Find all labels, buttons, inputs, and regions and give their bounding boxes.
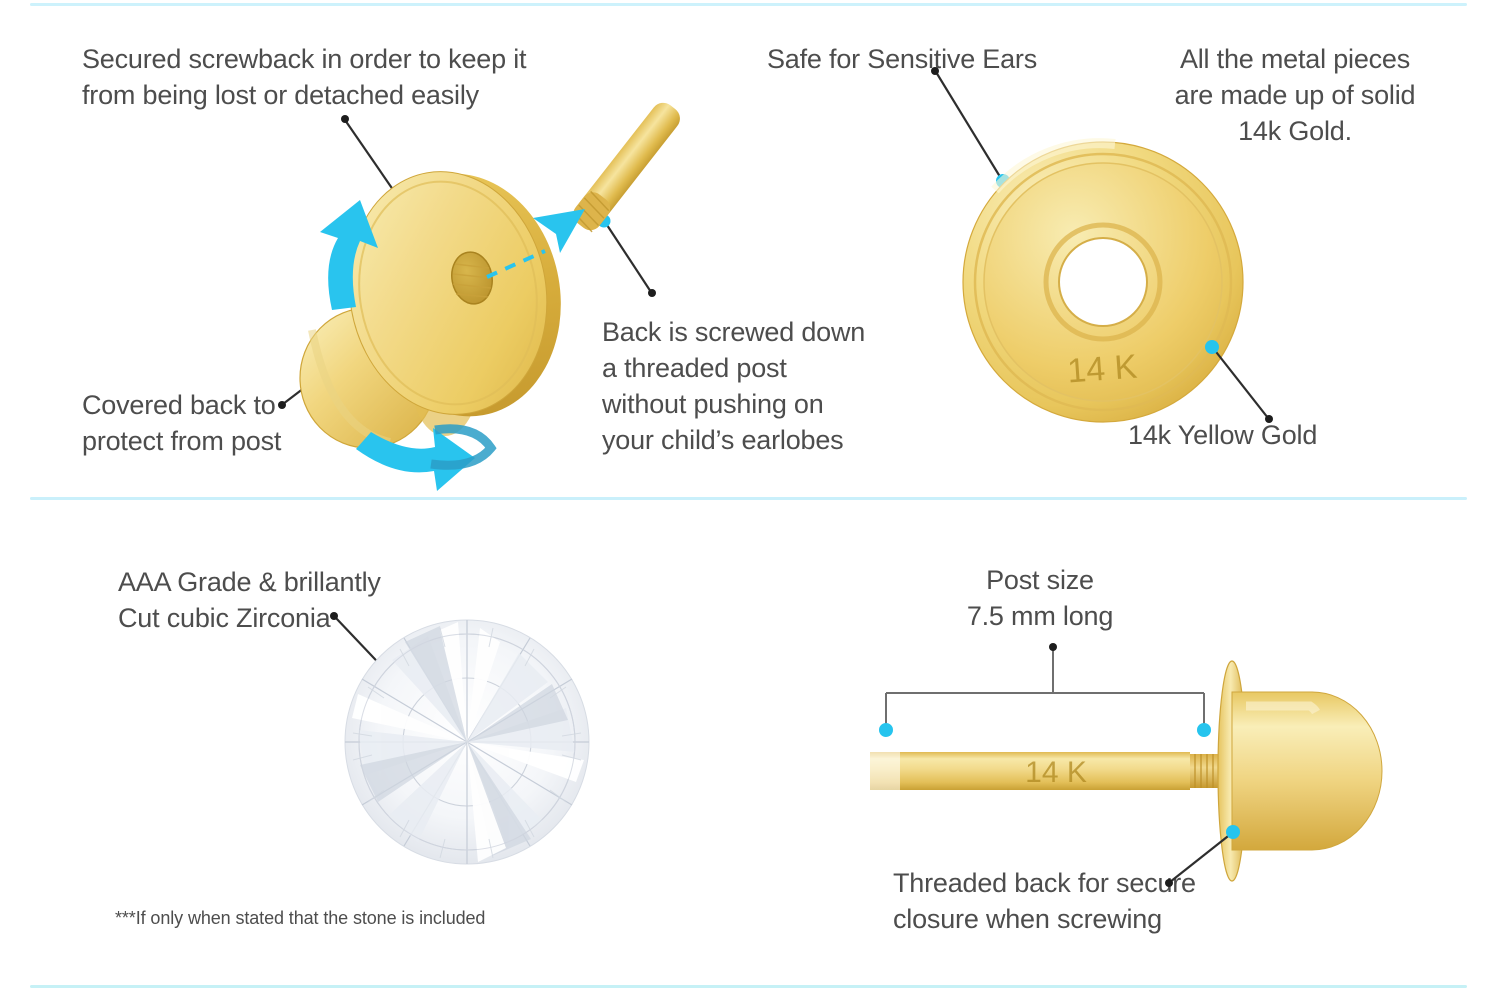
- post-thread-section: [1190, 754, 1222, 788]
- post-stamp-14k: 14 K: [1025, 756, 1087, 789]
- threaded-post-piece: [569, 98, 700, 235]
- disc-body: 14 K: [963, 142, 1243, 422]
- leader-threaded-post: [598, 215, 657, 298]
- gold-disc-illustration: 14 K: [900, 40, 1460, 480]
- disc-stamp-14k: 14 K: [1066, 348, 1139, 391]
- post-dimension-illustration: 14 K: [860, 630, 1360, 890]
- divider-bottom: [30, 985, 1467, 988]
- callout-post-size: Post size 7.5 mm long: [900, 563, 1180, 635]
- cubic-zirconia-illustration: [300, 590, 680, 910]
- gem-body: [345, 620, 589, 864]
- post-shaft: 14 K: [870, 752, 1190, 790]
- post-length-dimension: [879, 643, 1211, 737]
- leader-safe-ears: [931, 67, 1010, 188]
- leader-14k-yellow-gold: [1205, 340, 1273, 423]
- infographic-page: Secured screwback in order to keep it fr…: [0, 0, 1497, 1000]
- footnote-stone-included: ***If only when stated that the stone is…: [115, 908, 485, 929]
- rotation-arrow-right-icon: [356, 428, 491, 491]
- screwback-assembly-illustration: [0, 0, 900, 500]
- post-dome-cap: [1232, 692, 1382, 850]
